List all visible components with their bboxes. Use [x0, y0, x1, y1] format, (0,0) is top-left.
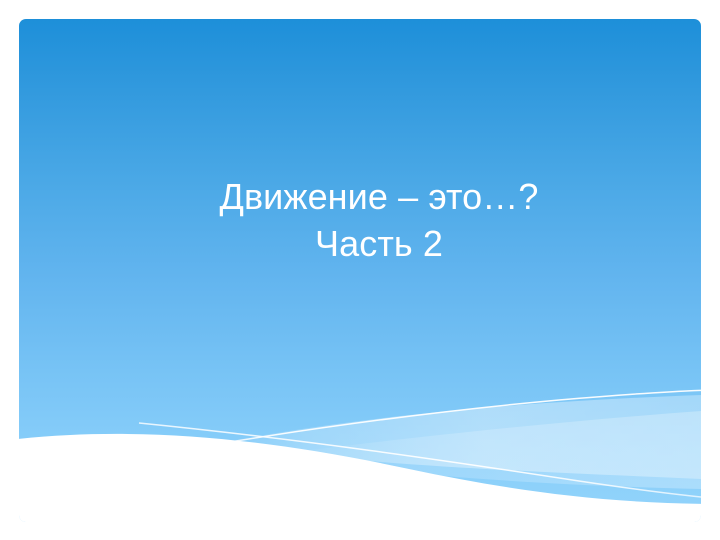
- flow-wave-graphic: [19, 19, 701, 522]
- slide-root: Движение – это…? Часть 2: [0, 0, 720, 540]
- slide-title-block[interactable]: Движение – это…? Часть 2: [79, 174, 679, 268]
- slide-title-line-1: Движение – это…?: [79, 174, 679, 221]
- slide-title-line-2: Часть 2: [79, 221, 679, 268]
- slide-canvas: Движение – это…? Часть 2: [19, 19, 701, 522]
